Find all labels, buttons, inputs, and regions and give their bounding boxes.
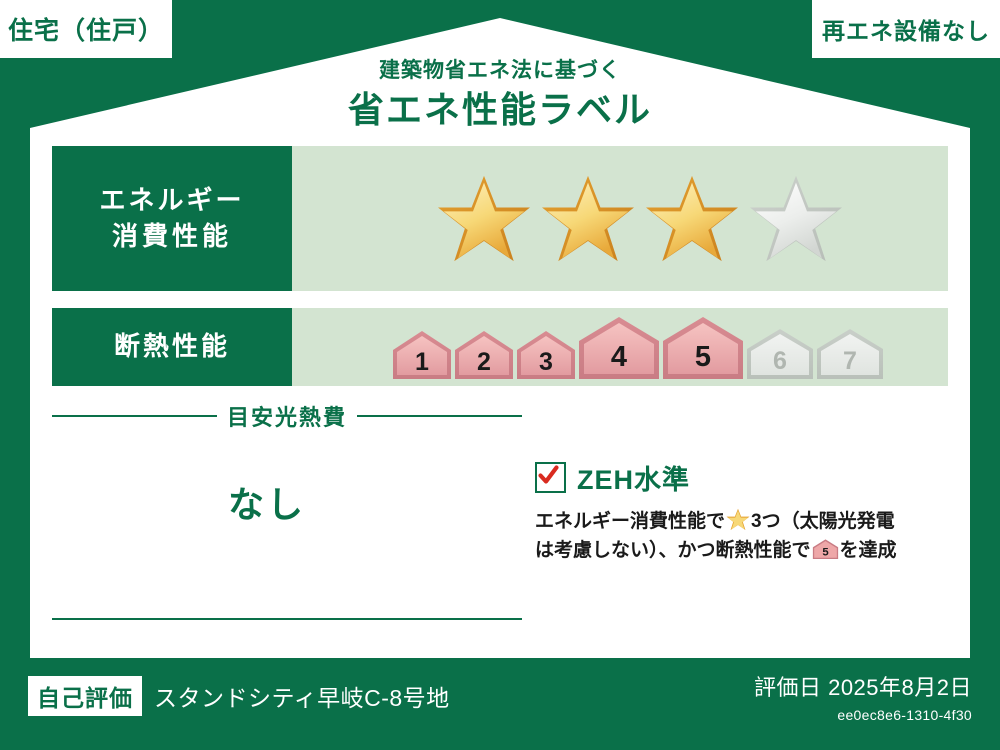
insulation-performance-row: 断熱性能 <box>52 308 948 386</box>
evaluation-date: 評価日 2025年8月2日 <box>754 670 972 702</box>
energy-performance-label: 住宅（住戸） 再エネ設備なし 建築物省エネ法に基づく 省エネ性能ラベル エネルギ… <box>0 0 1000 750</box>
svg-text:6: 6 <box>773 347 787 375</box>
svg-text:5: 5 <box>822 546 828 558</box>
svg-text:3: 3 <box>539 348 553 376</box>
zeh-title-row: ZEH水準 <box>535 458 955 497</box>
footer-right: 評価日 2025年8月2日 ee0ec8e6-1310-4f30 <box>754 670 972 723</box>
svg-text:4: 4 <box>611 341 627 373</box>
heading-rule-left <box>52 415 217 417</box>
zeh-desc-part3: を達成 <box>840 540 897 561</box>
building-name: スタンドシティ早岐C-8号地 <box>154 679 450 713</box>
check-icon <box>537 464 560 487</box>
estimated-utility-cost-heading: 目安光熱費 <box>52 400 522 432</box>
insulation-level-6-empty-icon: 6 <box>745 326 815 381</box>
zeh-desc-part1: エネルギー消費性能で <box>535 511 725 532</box>
cost-section-bottom-rule <box>52 618 522 620</box>
insulation-performance-header: 断熱性能 <box>52 308 292 386</box>
star-filled-icon <box>540 173 636 265</box>
svg-text:5: 5 <box>695 341 711 373</box>
energy-performance-value <box>292 146 948 291</box>
insulation-scale: 1 2 3 4 <box>391 314 885 381</box>
star-filled-icon <box>436 173 532 265</box>
evaluation-id: ee0ec8e6-1310-4f30 <box>754 707 972 723</box>
tab-dwelling-type: 住宅（住戸） <box>0 0 172 58</box>
footer-left: 自己評価 スタンドシティ早岐C-8号地 <box>28 676 450 716</box>
tab-renewable-equipment: 再エネ設備なし <box>812 0 1000 58</box>
zeh-standard-block: ZEH水準 エネルギー消費性能で 3つ（太陽光発電 は考慮しない）、かつ断熱性能… <box>535 458 955 565</box>
estimated-utility-cost-value: なし <box>52 476 522 528</box>
insulation-level-4-filled-icon: 4 <box>577 314 661 381</box>
zeh-desc-star-count: 3つ（太陽光発電 <box>751 511 895 532</box>
energy-performance-header-line1: エネルギー <box>99 183 244 218</box>
estimated-utility-cost-section: 目安光熱費 なし <box>52 400 522 528</box>
insulation-performance-header-label: 断熱性能 <box>114 329 230 364</box>
insulation-level-2-filled-icon: 2 <box>453 328 515 381</box>
insulation-performance-value: 1 2 3 4 <box>292 308 948 386</box>
zeh-desc-part2: は考慮しない）、かつ断熱性能で <box>535 540 811 561</box>
insulation-level-5-filled-icon: 5 <box>661 314 745 381</box>
star-rating <box>436 173 844 265</box>
svg-text:1: 1 <box>415 348 429 376</box>
tab-renewable-equipment-label: 再エネ設備なし <box>822 12 990 46</box>
zeh-standard-title: ZEH水準 <box>577 458 690 497</box>
estimated-utility-cost-label: 目安光熱費 <box>227 400 347 432</box>
svg-text:2: 2 <box>477 348 491 376</box>
label-footer: 自己評価 スタンドシティ早岐C-8号地 評価日 2025年8月2日 ee0ec8… <box>0 658 1000 750</box>
zeh-checkbox[interactable] <box>535 462 566 493</box>
energy-performance-header-line2: 消費性能 <box>112 219 232 254</box>
star-empty-icon <box>748 173 844 265</box>
energy-performance-row: エネルギー 消費性能 <box>52 146 948 291</box>
energy-performance-header: エネルギー 消費性能 <box>52 146 292 291</box>
insulation-level-7-empty-icon: 7 <box>815 326 885 381</box>
insulation-level-1-filled-icon: 1 <box>391 328 453 381</box>
label-body: エネルギー 消費性能 <box>30 128 970 658</box>
insulation-level-3-filled-icon: 3 <box>515 328 577 381</box>
heading-rule-right <box>357 415 522 417</box>
self-assessment-badge: 自己評価 <box>28 676 142 716</box>
tab-dwelling-type-label: 住宅（住戸） <box>8 11 164 47</box>
insulation-badge-icon: 5 <box>812 538 839 560</box>
star-inline-icon <box>726 508 750 531</box>
star-filled-icon <box>644 173 740 265</box>
svg-text:7: 7 <box>843 347 857 375</box>
zeh-standard-description: エネルギー消費性能で 3つ（太陽光発電 は考慮しない）、かつ断熱性能で 5 を達… <box>535 508 955 565</box>
